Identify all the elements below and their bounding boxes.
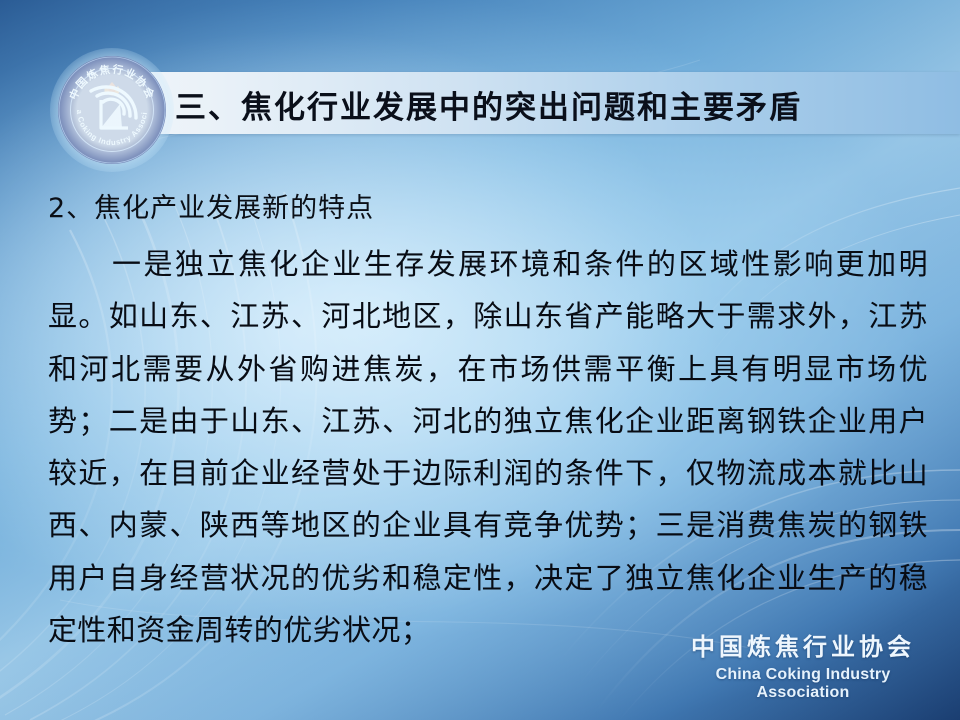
section-heading: 2、焦化产业发展新的特点 [48, 186, 928, 232]
footer-org-en: China Coking Industry Association [668, 666, 938, 702]
association-logo: 中国炼焦行业协会 China Coking Industry Associati… [56, 54, 168, 166]
logo-glow [50, 48, 174, 172]
slide-canvas: 中国炼焦行业协会 China Coking Industry Associati… [0, 0, 960, 720]
page-title: 三、焦化行业发展中的突出问题和主要矛盾 [175, 76, 945, 132]
slide-body: 2、焦化产业发展新的特点 一是独立焦化企业生存发展环境和条件的区域性影响更加明显… [48, 186, 928, 656]
body-paragraph: 一是独立焦化企业生存发展环境和条件的区域性影响更加明显。如山东、江苏、河北地区，… [48, 238, 928, 656]
